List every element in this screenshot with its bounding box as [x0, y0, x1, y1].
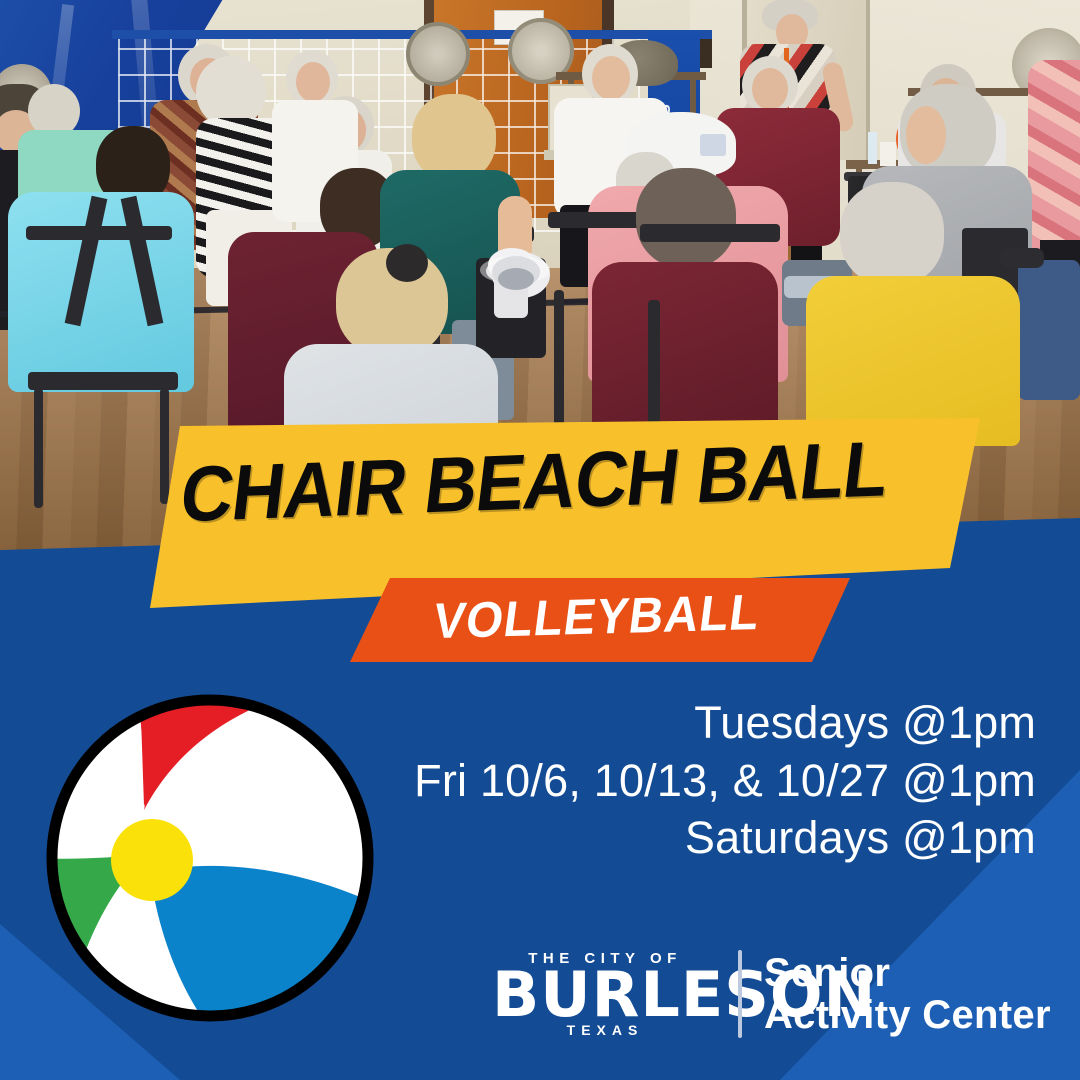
- shoe-dark: [1000, 248, 1044, 268]
- participant-head-front: [636, 168, 736, 268]
- water-bottle: [868, 132, 877, 164]
- poster-canvas: SPORTS: [0, 0, 1080, 1080]
- logo-city-name: BURLESON: [492, 969, 718, 1021]
- paper-cup: [880, 142, 896, 166]
- participant-maroon-shirt-front: [592, 262, 778, 442]
- folding-chair-leg: [34, 388, 43, 508]
- participant-head-blonde: [412, 94, 496, 182]
- beach-ball-icon: [40, 688, 380, 1028]
- city-of-burleson-logo: THE CITY OF BURLESON TEXAS: [492, 950, 718, 1038]
- cap-flag-patch: [700, 134, 726, 156]
- department-name: Senior Activity Center: [764, 952, 1051, 1037]
- sneaker-sole: [498, 268, 534, 290]
- door-handle-slot: [700, 38, 712, 68]
- schedule-line-2: Fri 10/6, 10/13, & 10/27 @1pm: [396, 752, 1036, 810]
- burleson-senior-activity-center-logo: THE CITY OF BURLESON TEXAS Senior Activi…: [492, 938, 1060, 1050]
- participant-head-grey-2: [840, 182, 944, 286]
- department-line-1: Senior: [764, 952, 1051, 994]
- schedule-block: Tuesdays @1pm Fri 10/6, 10/13, & 10/27 @…: [396, 694, 1036, 867]
- folding-chair-back: [26, 226, 172, 240]
- schedule-line-1: Tuesdays @1pm: [396, 694, 1036, 752]
- beach-ball-hub: [111, 819, 193, 901]
- participant-face-profile: [906, 106, 946, 164]
- department-line-2: Activity Center: [764, 994, 1051, 1036]
- participant-jeans: [1018, 260, 1080, 400]
- participant-face: [296, 62, 330, 102]
- schedule-line-3: Saturdays @1pm: [396, 809, 1036, 867]
- folding-chair-seat: [28, 372, 178, 390]
- participant-face: [752, 68, 788, 110]
- folding-chair-back: [640, 224, 780, 242]
- participant-face: [592, 56, 630, 100]
- beach-ball-illustration: [40, 688, 380, 1028]
- folding-chair-leg: [160, 388, 169, 504]
- logo-divider: [738, 950, 742, 1038]
- hair-scrunchie: [386, 244, 428, 282]
- fan-icon: [406, 22, 470, 86]
